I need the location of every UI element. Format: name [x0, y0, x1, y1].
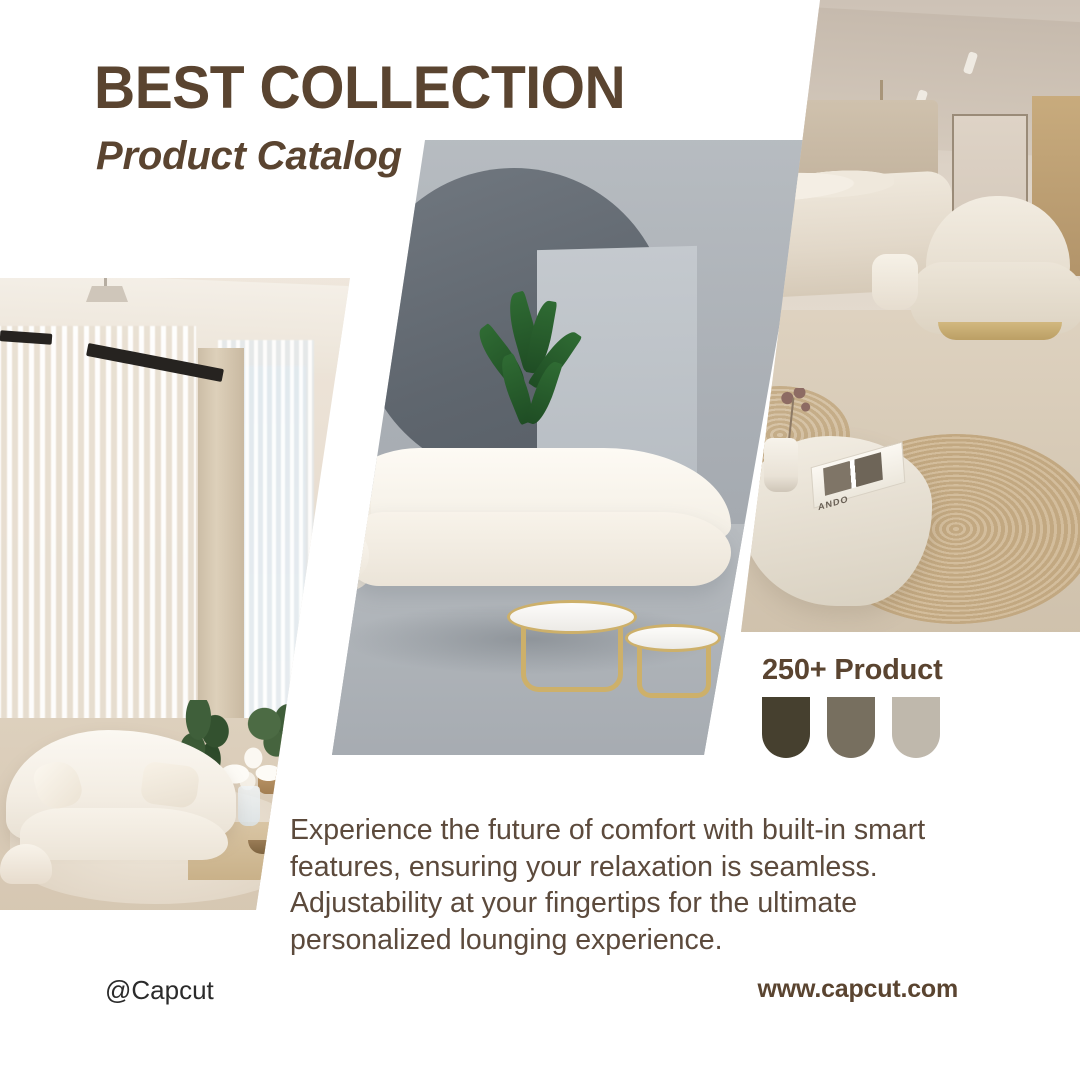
swatch-taupe[interactable]: [827, 697, 875, 758]
social-handle[interactable]: @Capcut: [105, 975, 214, 1006]
lounge-chair-gold-base: [938, 322, 1062, 340]
studio-sofa-seat: [349, 512, 731, 586]
studio-scene: [325, 132, 820, 764]
nesting-table-small-top: [625, 624, 721, 652]
ceramic-vase: [764, 438, 798, 492]
page-subtitle: Product Catalog: [96, 136, 402, 176]
sofa-seat-cushion: [20, 808, 228, 860]
sofa-pillow-right: [140, 761, 201, 810]
swatch-dark-olive[interactable]: [762, 697, 810, 758]
glass-vase: [238, 786, 260, 826]
nesting-table-large-top: [507, 600, 637, 634]
dried-branch-blooms: [776, 388, 814, 444]
dome-pendant-lamp: [86, 286, 128, 302]
product-count-label: 250+ Product: [762, 654, 943, 687]
pendant-rod: [104, 270, 107, 288]
website-url[interactable]: www.capcut.com: [758, 975, 958, 1004]
gallery-image-studio-sofa-set[interactable]: [325, 132, 820, 764]
page-title: BEST COLLECTION: [94, 58, 625, 118]
wooden-bowl: [248, 840, 290, 854]
color-swatch-row: [762, 697, 940, 758]
description-paragraph: Experience the future of comfort with bu…: [290, 812, 962, 958]
small-pouf: [872, 254, 918, 310]
swatch-light-greige[interactable]: [892, 697, 940, 758]
poster-canvas: BEST COLLECTION Product Catalog: [0, 0, 1080, 1080]
